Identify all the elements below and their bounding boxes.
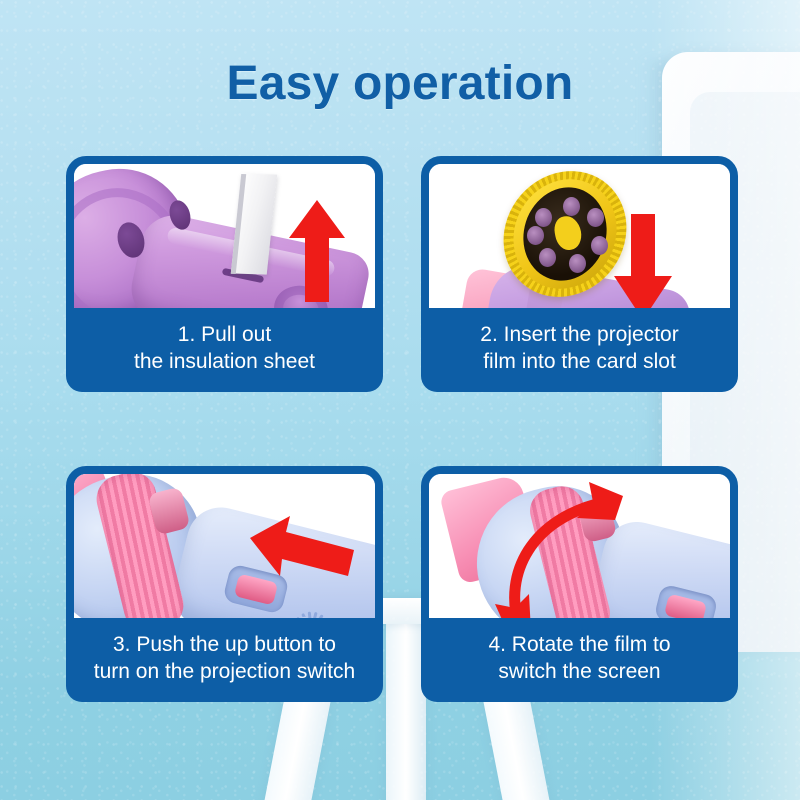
step-2-caption-line-1: 2. Insert the projector bbox=[429, 322, 730, 349]
step-4-caption: 4. Rotate the film to switch the screen bbox=[421, 618, 738, 702]
film-frame-3 bbox=[587, 208, 604, 227]
step-1-caption-line-1: 1. Pull out bbox=[74, 322, 375, 349]
step-card-4[interactable]: 4. Rotate the film to switch the screen bbox=[421, 466, 738, 741]
step-2-caption-line-2: film into the card slot bbox=[429, 349, 730, 376]
step-2-caption: 2. Insert the projector film into the ca… bbox=[421, 308, 738, 392]
arrow-down-icon bbox=[614, 214, 672, 320]
step-card-1[interactable]: 1. Pull out the insulation sheet bbox=[66, 156, 383, 431]
film-frame-2 bbox=[563, 197, 580, 216]
step-1-caption-line-2: the insulation sheet bbox=[74, 349, 375, 376]
step-4-caption-line-1: 4. Rotate the film to bbox=[429, 632, 730, 659]
film-frame-4 bbox=[591, 236, 608, 255]
arrow-up-icon bbox=[289, 200, 345, 302]
step-card-2[interactable]: 2. Insert the projector film into the ca… bbox=[421, 156, 738, 431]
step-card-3[interactable]: 3. Push the up button to turn on the pro… bbox=[66, 466, 383, 741]
step-3-caption: 3. Push the up button to turn on the pro… bbox=[66, 618, 383, 702]
step-3-caption-line-1: 3. Push the up button to bbox=[74, 632, 375, 659]
arrow-left-icon bbox=[250, 516, 354, 584]
steps-grid: 1. Pull out the insulation sheet bbox=[66, 156, 738, 741]
step-4-caption-line-2: switch the screen bbox=[429, 659, 730, 686]
step-3-caption-line-2: turn on the projection switch bbox=[74, 659, 375, 686]
page-title: Easy operation bbox=[0, 56, 800, 111]
step-1-caption: 1. Pull out the insulation sheet bbox=[66, 308, 383, 392]
film-frame-1 bbox=[535, 208, 552, 227]
poster-canvas: Easy operation bbox=[0, 0, 800, 800]
film-frame-7 bbox=[527, 226, 544, 245]
film-frame-5 bbox=[569, 254, 586, 273]
film-frame-6 bbox=[539, 248, 556, 267]
